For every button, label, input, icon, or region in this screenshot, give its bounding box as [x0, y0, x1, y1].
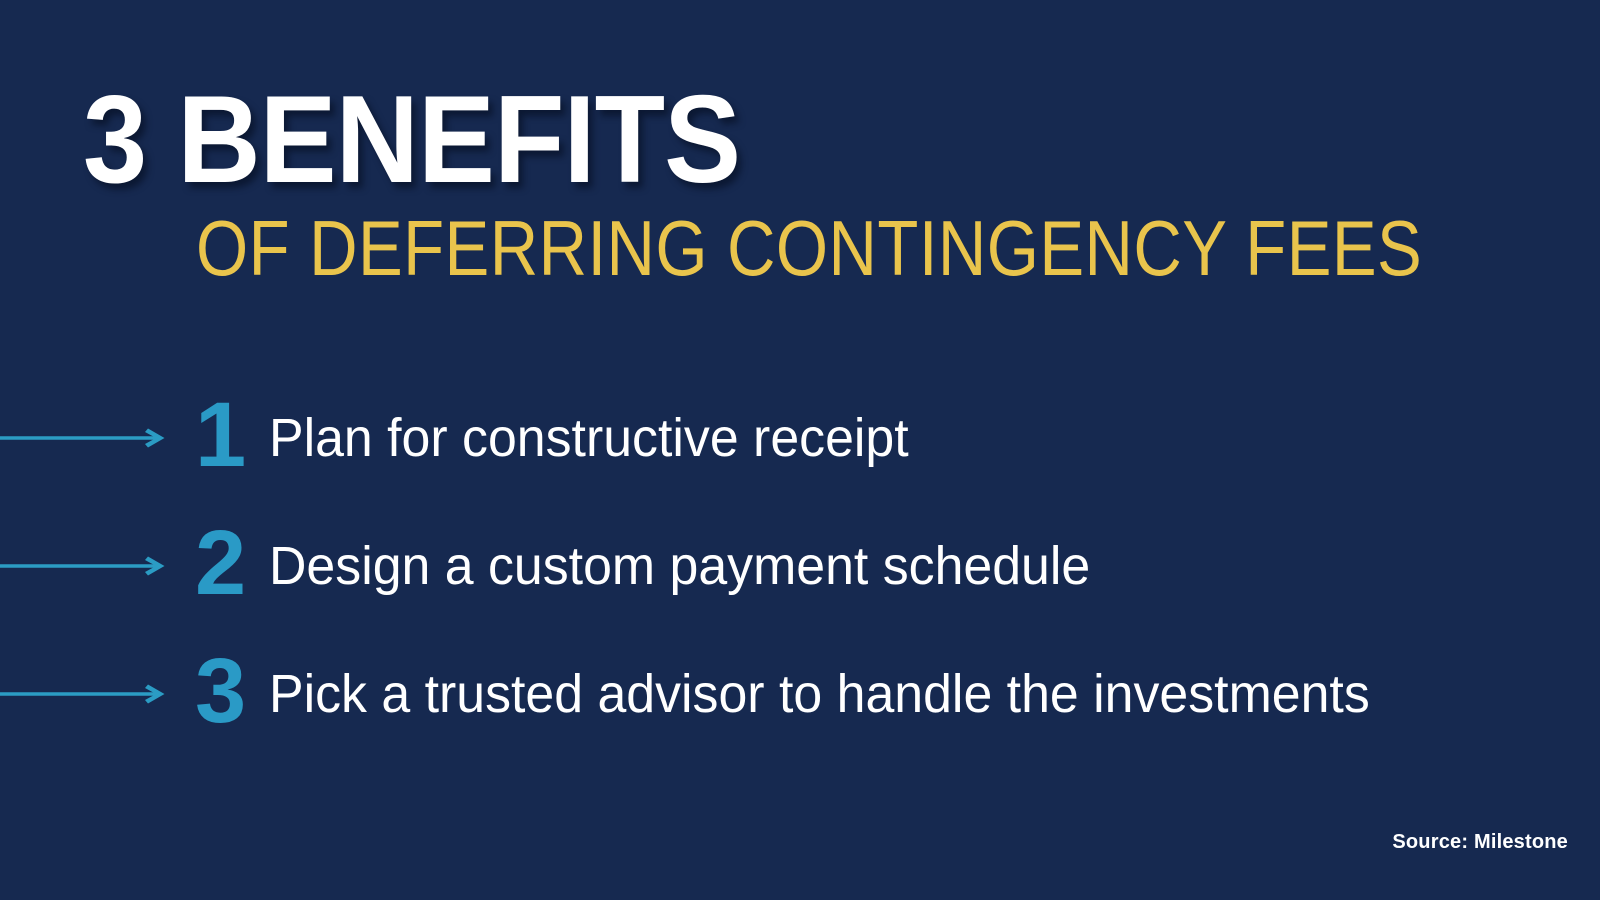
arrow-right-icon — [0, 553, 172, 579]
source-attribution: Source: Milestone — [1392, 831, 1568, 854]
list-item: 2 Design a custom payment schedule — [0, 502, 1600, 630]
list-item: 3 Pick a trusted advisor to handle the i… — [0, 630, 1600, 758]
arrow-right-icon — [0, 681, 172, 707]
page-title: 3 BENEFITS — [83, 78, 740, 202]
arrow-right-icon — [0, 425, 172, 451]
page-subtitle: OF DEFERRING CONTINGENCY FEES — [196, 209, 1422, 287]
benefits-list: 1 Plan for constructive receipt 2 Design… — [0, 374, 1600, 758]
benefit-number: 1 — [172, 389, 269, 481]
benefit-number: 3 — [172, 645, 269, 737]
benefit-label: Pick a trusted advisor to handle the inv… — [269, 667, 1547, 721]
list-item: 1 Plan for constructive receipt — [0, 374, 1600, 502]
benefit-number: 2 — [172, 517, 269, 609]
infographic-slide: 3 BENEFITS OF DEFERRING CONTINGENCY FEES… — [0, 0, 1600, 900]
benefit-label: Plan for constructive receipt — [269, 411, 1547, 465]
benefit-label: Design a custom payment schedule — [269, 539, 1547, 593]
